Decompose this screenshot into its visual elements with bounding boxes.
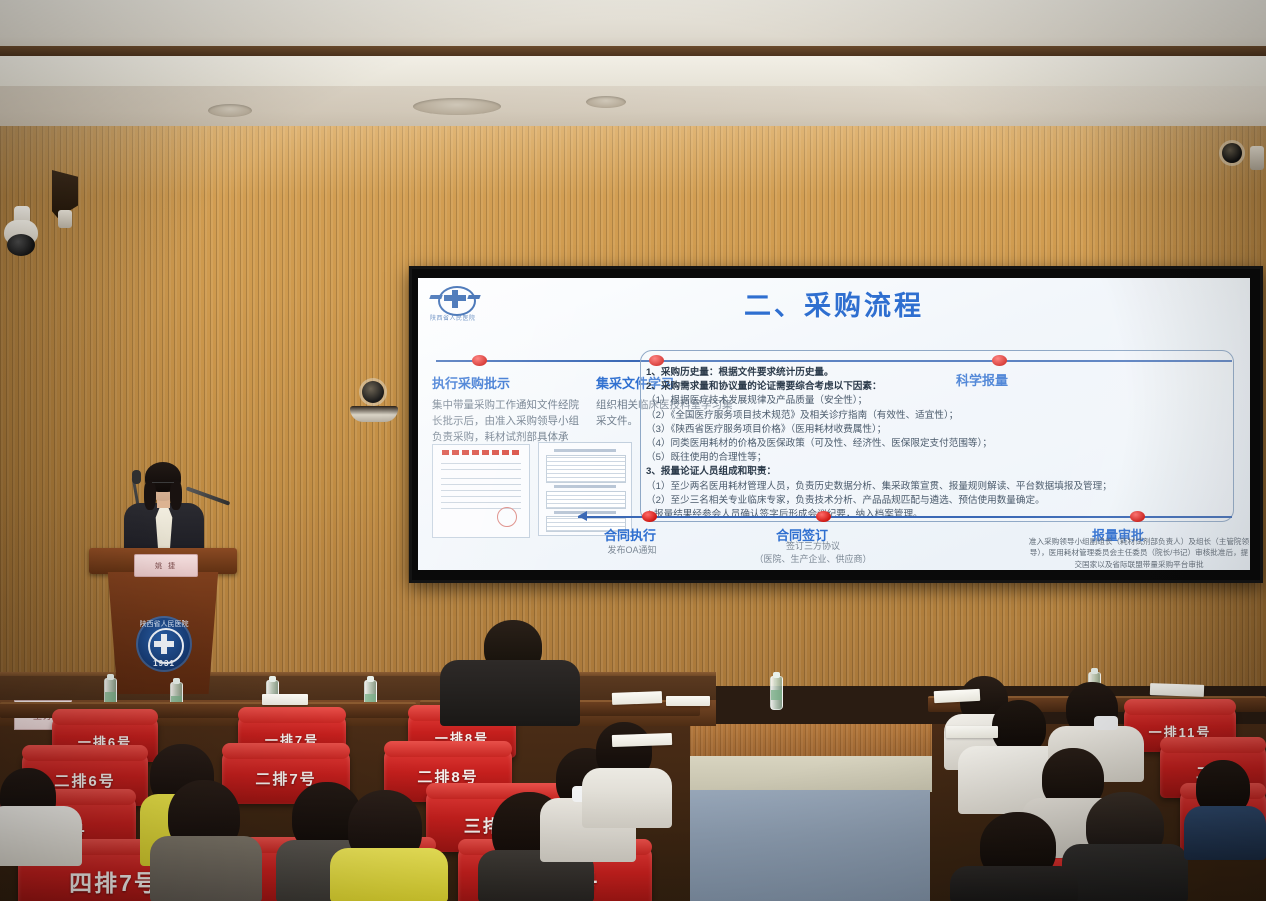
handout-paper <box>666 696 710 706</box>
handout-paper <box>946 726 998 738</box>
panel-line-9: （1）至少两名医用耗材管理人员，负责历史数据分析、集采政策宣贯、报量规则解读、平… <box>646 480 1232 494</box>
center-aisle-carpet <box>690 790 930 901</box>
podium: 姚 捷 陕西省人民医院 1931 <box>89 548 237 694</box>
ceiling <box>0 0 1266 52</box>
wall-speaker-mount <box>58 210 72 228</box>
ptz-security-camera-icon <box>4 206 38 260</box>
detail-panel-text: 1、采购历史量：根据文件要求统计历史量。 2、采购需求量和协议量的论证需要综合考… <box>646 366 1232 522</box>
microphone-icon <box>132 470 141 484</box>
downlight-icon <box>208 104 252 117</box>
handout-paper <box>1150 683 1204 697</box>
panel-line-3: （1）根据医疗技术发展规律及产品质量（安全性）； <box>646 394 1232 408</box>
panel-line-10: （2）至少三名相关专业临床专家，负责技术分析、产品品规匹配与遴选、预估使用数量确… <box>646 494 1232 508</box>
panel-line-2: 2、采购需求量和协议量的论证需要综合考虑以下因素： <box>646 381 882 392</box>
handout-paper <box>934 689 981 703</box>
downlight-icon <box>413 98 501 115</box>
water-bottle <box>770 676 783 710</box>
ceiling-trim <box>0 46 1266 56</box>
bottom-node-body-1: 发布OA通知 <box>578 544 686 557</box>
timeline-dot <box>816 511 831 522</box>
hospital-emblem-icon: 陕西省人民医院 1931 <box>136 616 192 672</box>
handout-paper <box>612 691 662 705</box>
panel-line-4: （2）《全国医疗服务项目技术规范》及相关诊疗指南（有效性、适宜性）； <box>646 409 1232 423</box>
panel-line-6: （4）同类医用耗材的价格及医保政策（可及性、经济性、医保限定支付范围等）； <box>646 437 1232 451</box>
panel-line-8: 3、报量论证人员组成和职责： <box>646 466 776 477</box>
bottom-node-body-3: 准入采购领导小组副组长（耗材试剂部负责人）及组长（主管院领导），医用耗材管理委员… <box>1028 536 1250 570</box>
presentation-screen: 陕西省人民医院 二、采购流程 执行采购批示 集采文件学习 科学报量 集中带量采购… <box>409 266 1263 583</box>
wall-camera-icon <box>362 381 384 403</box>
ceiling-soffit-shading <box>0 86 1266 130</box>
thumbnail-data-table <box>538 442 632 536</box>
aisle-back-wall-wood <box>690 724 932 758</box>
panel-line-5: （3）《陕西省医疗服务项目价格》（医用耗材收费属性）； <box>646 423 1232 437</box>
handout-paper <box>262 694 308 705</box>
ceiling-band <box>0 56 1266 88</box>
timeline-arrow-icon <box>578 511 587 521</box>
podium-nameplate: 姚 捷 <box>134 554 198 577</box>
aisle-wall <box>690 756 932 792</box>
conference-hall-photo: 陕西省人民医院 二、采购流程 执行采购批示 集采文件学习 科学报量 集中带量采购… <box>0 0 1266 901</box>
wall-device-panel <box>1250 146 1264 170</box>
emblem-year: 1931 <box>136 659 192 668</box>
timeline-dot <box>642 511 657 522</box>
timeline-dot <box>1130 511 1145 522</box>
panel-line-7: （5）既往使用的合理性等； <box>646 451 1232 465</box>
bottom-node-body-2: 签订三方协议 （医院、生产企业、供应商） <box>738 540 888 566</box>
downlight-icon <box>586 96 626 108</box>
panel-line-1: 1、采购历史量：根据文件要求统计历史量。 <box>646 367 834 378</box>
node-label-1: 执行采购批示 <box>432 373 510 392</box>
slide-content: 陕西省人民医院 二、采购流程 执行采购批示 集采文件学习 科学报量 集中带量采购… <box>418 278 1250 570</box>
handout-paper <box>612 733 672 747</box>
bottom-node-label-1: 合同执行 <box>604 525 656 544</box>
timeline-dot <box>472 355 487 366</box>
thumbnail-official-document <box>432 444 530 538</box>
wall-speaker-bar-icon <box>350 406 398 422</box>
slide-title: 二、采购流程 <box>418 284 1250 323</box>
wall-camera-icon <box>1222 143 1242 163</box>
